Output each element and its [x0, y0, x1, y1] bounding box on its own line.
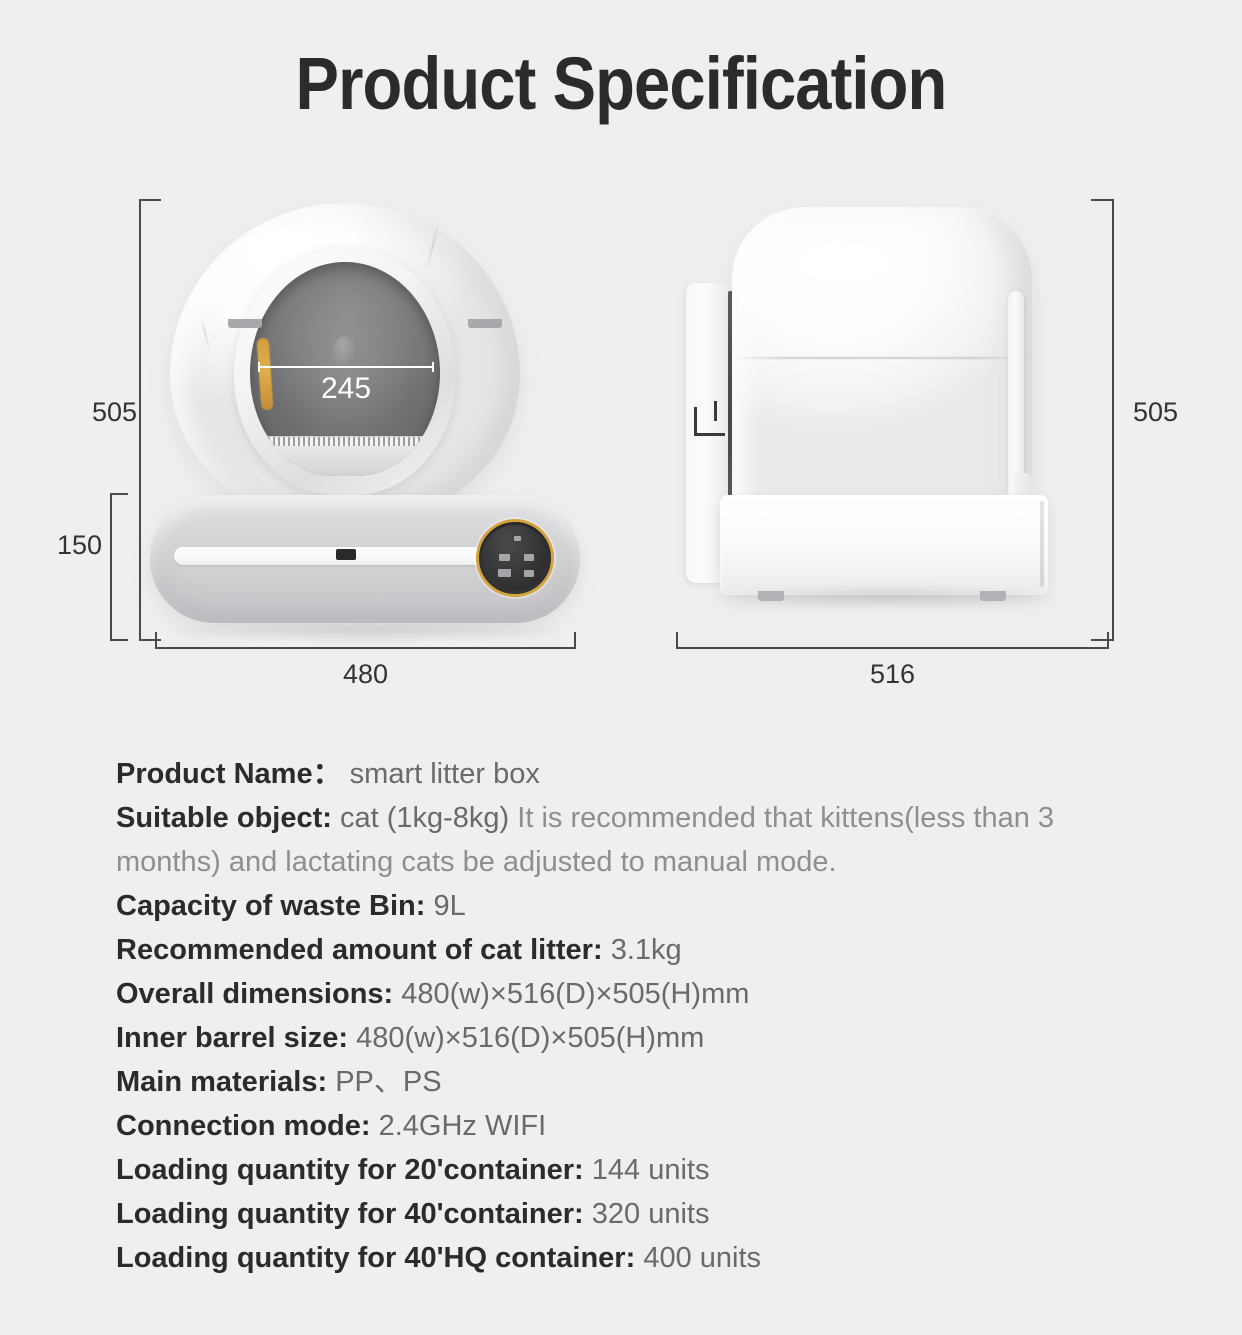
drum-hub [332, 336, 358, 368]
front-height-tick-top [139, 199, 161, 201]
spec-value-main-materials: PP、PS [335, 1066, 441, 1098]
spec-value-product-name: smart litter box [350, 758, 540, 790]
spec-value-loading-40ft: 320 units [592, 1198, 710, 1230]
spec-label-inner-barrel-size: Inner barrel size: [116, 1022, 348, 1054]
front-width-dimension-line [155, 647, 576, 649]
front-height-dimension-line [139, 199, 141, 641]
front-view-illustration: 245 [150, 195, 580, 645]
spec-row-connection-mode: Connection mode: 2.4GHz WIFI [116, 1104, 1126, 1148]
front-height-label: 505 [92, 397, 137, 427]
shell-seam-left [200, 315, 211, 350]
spec-row-litter-amount: Recommended amount of cat litter: 3.1kg [116, 928, 1126, 972]
front-base-height-dimension-line [110, 493, 112, 641]
spec-value-litter-amount: 3.1kg [611, 934, 682, 966]
side-body-seam [734, 357, 1030, 359]
spec-value-inner-barrel-size: 480(w)×516(D)×505(H)mm [356, 1022, 704, 1054]
drum-opening: 245 [250, 262, 440, 476]
opening-width-label: 245 [250, 372, 440, 406]
spec-row-overall-dimensions: Overall dimensions: 480(w)×516(D)×505(H)… [116, 972, 1126, 1016]
spec-value-loading-40hq: 400 units [643, 1242, 761, 1274]
spec-label-suitable-object: Suitable object: [116, 802, 332, 834]
front-foot-left [228, 319, 262, 328]
spec-label-litter-amount: Recommended amount of cat litter: [116, 934, 603, 966]
side-view-ground-shadow [732, 585, 1042, 607]
front-base-height-label: 150 [57, 530, 102, 560]
spec-row-waste-bin-capacity: Capacity of waste Bin: 9L [116, 884, 1126, 928]
side-height-dimension-line [1112, 199, 1114, 641]
opening-width-dimension-line [258, 366, 434, 368]
spec-row-loading-20ft: Loading quantity for 20'container: 144 u… [116, 1148, 1126, 1192]
spec-row-main-materials: Main materials: PP、PS [116, 1060, 1126, 1104]
spec-label-connection-mode: Connection mode: [116, 1110, 371, 1142]
control-panel-face [482, 525, 548, 591]
opening-rim: 245 [234, 247, 456, 495]
front-view-ground-shadow [160, 619, 572, 641]
shell-seam-right [426, 220, 441, 271]
spec-value-waste-bin-capacity: 9L [433, 890, 465, 922]
side-l-marking-stem [714, 401, 717, 421]
panel-button-icon-bottom-right [524, 570, 534, 577]
front-base-height-tick-top [110, 493, 128, 495]
spec-label-waste-bin-capacity: Capacity of waste Bin: [116, 890, 425, 922]
side-height-tick-bottom [1091, 639, 1113, 641]
side-depth-label: 516 [676, 659, 1109, 689]
front-width-tick-right [574, 632, 576, 648]
spec-label-main-materials: Main materials: [116, 1066, 327, 1098]
side-l-marking [694, 407, 725, 436]
side-depth-dimension-line [676, 647, 1109, 649]
control-panel [476, 519, 554, 597]
side-body-highlight [772, 233, 942, 303]
spec-label-product-name: Product Name： [116, 758, 342, 790]
spec-value-loading-20ft: 144 units [592, 1154, 710, 1186]
spec-value-overall-dimensions: 480(w)×516(D)×505(H)mm [401, 978, 749, 1010]
panel-button-icon-top-left [499, 554, 510, 561]
side-drawer-edge [1040, 501, 1044, 587]
litter-tray [254, 446, 436, 476]
panel-button-icon-bottom-left [498, 569, 511, 577]
base-drawer [150, 495, 580, 623]
front-foot-right [468, 319, 502, 328]
panel-power-icon [514, 536, 521, 541]
spec-value-suitable-object: cat (1kg-8kg) [340, 802, 509, 834]
spec-row-loading-40hq: Loading quantity for 40'HQ container: 40… [116, 1236, 1126, 1280]
front-width-label: 480 [155, 659, 576, 689]
spec-value-connection-mode: 2.4GHz WIFI [379, 1110, 547, 1142]
spec-row-inner-barrel-size: Inner barrel size: 480(w)×516(D)×505(H)m… [116, 1016, 1126, 1060]
spec-label-loading-20ft: Loading quantity for 20'container: [116, 1154, 584, 1186]
side-view-illustration [680, 195, 1110, 645]
front-base-height-tick-bottom [110, 639, 128, 641]
spec-label-loading-40ft: Loading quantity for 40'container: [116, 1198, 584, 1230]
front-width-tick-left [155, 632, 157, 648]
side-height-tick-top [1091, 199, 1113, 201]
panel-button-icon-top-right [524, 554, 534, 561]
spec-row-loading-40ft: Loading quantity for 40'container: 320 u… [116, 1192, 1126, 1236]
spec-row-product-name: Product Name： smart litter box [116, 752, 1126, 796]
front-height-tick-bottom [139, 639, 161, 641]
specification-list: Product Name： smart litter box Suitable … [116, 752, 1126, 1280]
sensor-window [336, 549, 356, 560]
spec-label-overall-dimensions: Overall dimensions: [116, 978, 393, 1010]
spec-row-suitable-object: Suitable object: cat (1kg-8kg) It is rec… [116, 796, 1126, 884]
product-dimension-diagram: 245 505 150 480 [0, 185, 1242, 705]
side-height-label: 505 [1133, 397, 1178, 427]
page-title: Product Specification [75, 40, 1168, 128]
side-drawer [720, 495, 1048, 595]
spec-label-loading-40hq: Loading quantity for 40'HQ container: [116, 1242, 635, 1274]
side-depth-tick-right [1107, 632, 1109, 648]
side-depth-tick-left [676, 632, 678, 648]
